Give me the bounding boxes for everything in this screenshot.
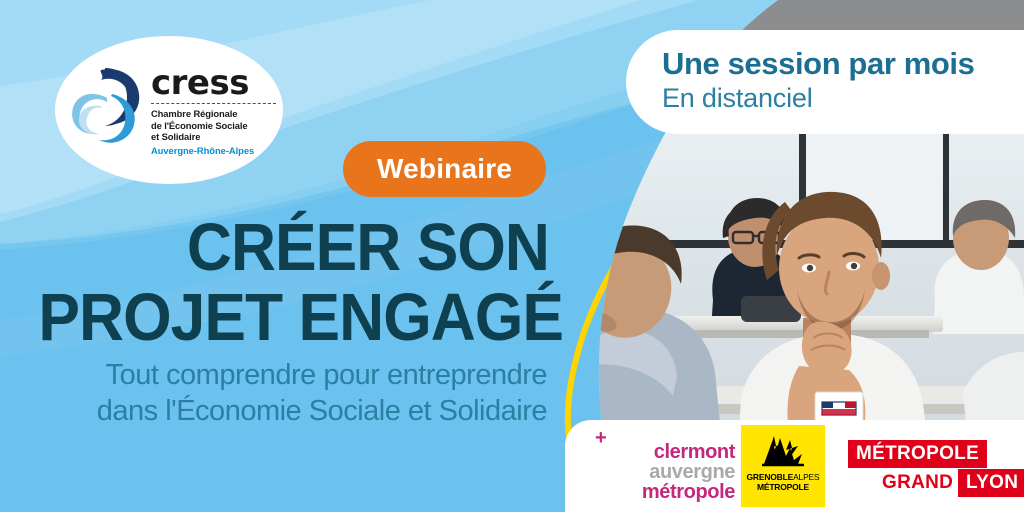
partner-logo-grand-lyon[interactable]: MÉTROPOLE GRAND LYON xyxy=(848,440,1008,492)
lyon-lyon-label: LYON xyxy=(958,469,1024,497)
clermont-line1: clermont xyxy=(605,442,735,462)
cress-subtitle-line3: et Solidaire xyxy=(151,131,276,143)
subheadline: Tout comprendre pour entreprendre dans l… xyxy=(0,357,563,429)
session-panel: Une session par mois En distanciel xyxy=(626,30,1024,134)
session-frequency: Une session par mois xyxy=(662,46,974,82)
grenoble-line2: MÉTROPOLE xyxy=(741,482,825,492)
grenoble-line1-bold: GRENOBLE xyxy=(747,472,794,482)
cress-divider xyxy=(151,103,276,104)
cress-wordmark: cress xyxy=(151,66,276,100)
cress-logo-text: cress Chambre Régionale de l'Économie So… xyxy=(151,66,276,157)
subheadline-line2: dans l'Économie Sociale et Solidaire xyxy=(0,393,547,429)
headline-line2: PROJET ENGAGÉ xyxy=(38,283,549,353)
grenoble-mountain-icon xyxy=(760,434,806,468)
cress-subtitle-line2: de l'Économie Sociale xyxy=(151,120,276,132)
partner-logo-grenoble[interactable]: GRENOBLEALPES MÉTROPOLE xyxy=(741,425,825,507)
session-format: En distanciel xyxy=(662,82,974,114)
grenoble-line1-light: ALPES xyxy=(793,472,819,482)
clermont-line2: auvergne xyxy=(605,462,735,482)
webinaire-badge-label: Webinaire xyxy=(377,154,512,184)
cress-region: Auvergne-Rhône-Alpes xyxy=(151,144,276,157)
cress-logo-mark xyxy=(71,64,147,150)
lyon-metropole-label: MÉTROPOLE xyxy=(848,440,987,468)
webinar-banner: Une session par mois En distanciel cress… xyxy=(0,0,1024,512)
headline: CRÉER SON PROJET ENGAGÉ xyxy=(0,213,563,353)
headline-line1: CRÉER SON xyxy=(38,213,549,283)
webinaire-badge: Webinaire xyxy=(343,141,546,197)
partner-logo-clermont[interactable]: + clermont auvergne métropole xyxy=(579,428,739,504)
subheadline-line1: Tout comprendre pour entreprendre xyxy=(0,357,547,393)
clermont-line3: métropole xyxy=(605,482,735,502)
cress-subtitle-line1: Chambre Régionale xyxy=(151,108,276,120)
lyon-grand-label: GRAND xyxy=(876,469,959,497)
grenoble-line1: GRENOBLEALPES xyxy=(741,472,825,482)
cress-logo[interactable]: cress Chambre Régionale de l'Économie So… xyxy=(55,36,283,184)
partners-panel: + clermont auvergne métropole GRENOBLEAL… xyxy=(565,420,1024,512)
